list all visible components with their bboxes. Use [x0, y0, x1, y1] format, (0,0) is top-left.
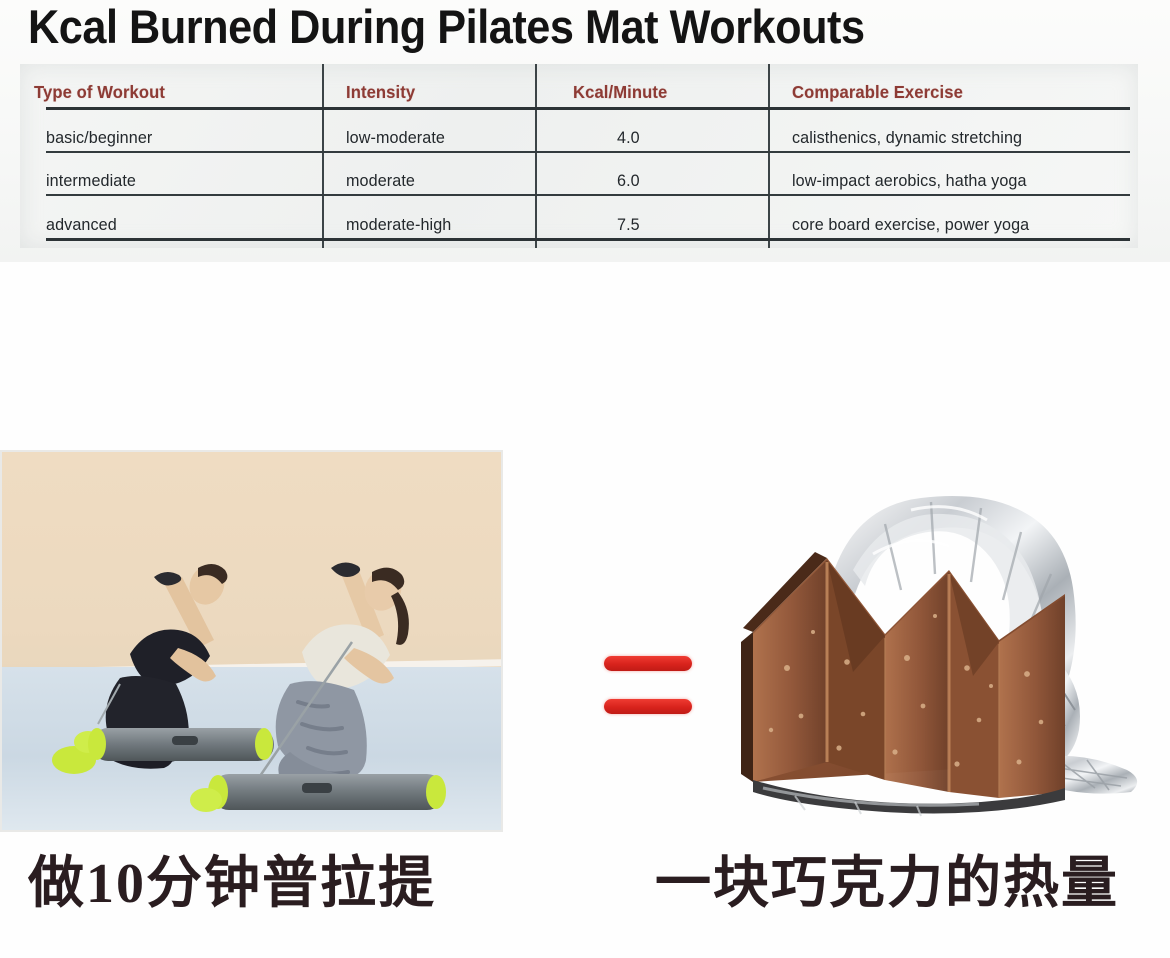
- bottom-rule: [46, 238, 1130, 241]
- table-row: moderate: [346, 171, 415, 191]
- row-rule-1: [46, 151, 1130, 153]
- header-rule: [46, 107, 1130, 110]
- person-right: [260, 562, 409, 794]
- column-divider-1: [322, 64, 324, 248]
- table-row: 4.0: [617, 128, 640, 148]
- caption-right: 一块巧克力的热量: [655, 848, 1119, 920]
- table-row: basic/beginner: [46, 128, 152, 148]
- table-row: 6.0: [617, 171, 640, 191]
- column-header-intensity: Intensity: [346, 82, 415, 103]
- column-header-comparable: Comparable Exercise: [792, 82, 963, 103]
- table-row: calisthenics, dynamic stretching: [792, 128, 1022, 148]
- foam-roller-left: [88, 728, 274, 761]
- comparison-section: 做10分钟普拉提 一块巧克力的热量: [0, 262, 1170, 958]
- equals-bar-top: [604, 656, 692, 671]
- column-header-type: Type of Workout: [34, 82, 165, 103]
- chocolate-illustration: [735, 462, 1155, 822]
- table-row: low-impact aerobics, hatha yoga: [792, 171, 1027, 191]
- table-row: core board exercise, power yoga: [792, 215, 1029, 235]
- column-divider-2: [535, 64, 537, 248]
- pilates-figures: [2, 452, 501, 830]
- caption-left: 做10分钟普拉提: [28, 848, 436, 920]
- page-title: Kcal Burned During Pilates Mat Workouts: [28, 0, 1058, 56]
- table-row: moderate-high: [346, 215, 451, 235]
- column-divider-3: [768, 64, 770, 248]
- table-row: 7.5: [617, 215, 640, 235]
- infographic-panel: Kcal Burned During Pilates Mat Workouts …: [0, 0, 1170, 262]
- table-row: low-moderate: [346, 128, 445, 148]
- pilates-side-stretch-photo: [0, 450, 503, 832]
- kcal-table: Type of Workout Intensity Kcal/Minute Co…: [20, 64, 1138, 248]
- equals-bar-bottom: [604, 699, 692, 714]
- table-row: intermediate: [46, 171, 136, 191]
- column-header-kcal: Kcal/Minute: [573, 82, 667, 103]
- foam-roller-right: [190, 774, 446, 812]
- row-rule-2: [46, 194, 1130, 196]
- equals-sign: [604, 656, 692, 722]
- chocolate-bar-photo: [735, 462, 1155, 822]
- table-row: advanced: [46, 215, 117, 235]
